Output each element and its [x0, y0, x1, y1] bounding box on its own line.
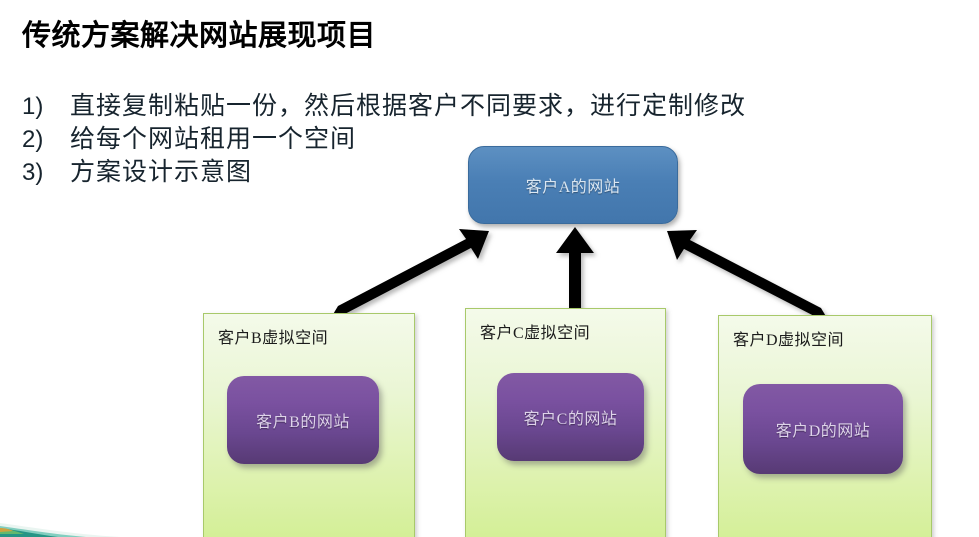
list-item: 2) 给每个网站租用一个空间 — [22, 119, 922, 152]
node-client-a-website[interactable]: 客户A的网站 — [468, 146, 678, 224]
virtual-space-c[interactable]: 客户C虚拟空间 客户C的网站 — [465, 308, 666, 537]
list-item-label: 直接复制粘贴一份，然后根据客户不同要求，进行定制修改 — [70, 86, 746, 122]
arrow-c-to-a — [556, 227, 594, 313]
node-client-a-label: 客户A的网站 — [526, 173, 621, 197]
node-client-c-website[interactable]: 客户C的网站 — [497, 373, 644, 461]
arrow-d-to-a — [667, 230, 827, 327]
virtual-space-d-title: 客户D虚拟空间 — [733, 326, 844, 350]
list-item-label: 方案设计示意图 — [70, 152, 252, 188]
node-client-c-label: 客户C的网站 — [524, 405, 618, 429]
list-item-label: 给每个网站租用一个空间 — [70, 119, 356, 155]
virtual-space-d[interactable]: 客户D虚拟空间 客户D的网站 — [718, 315, 932, 537]
list-item-marker: 2) — [22, 126, 70, 154]
list-item-marker: 1) — [22, 93, 70, 121]
node-client-d-label: 客户D的网站 — [776, 417, 871, 441]
list-item: 1) 直接复制粘贴一份，然后根据客户不同要求，进行定制修改 — [22, 86, 922, 119]
page-title: 传统方案解决网站展现项目 — [22, 12, 376, 54]
node-client-b-label: 客户B的网站 — [256, 408, 350, 432]
virtual-space-c-title: 客户C虚拟空间 — [480, 319, 590, 343]
virtual-space-b[interactable]: 客户B虚拟空间 客户B的网站 — [203, 313, 415, 537]
virtual-space-b-title: 客户B虚拟空间 — [218, 324, 328, 348]
node-client-d-website[interactable]: 客户D的网站 — [743, 384, 903, 474]
slide-canvas: 传统方案解决网站展现项目 1) 直接复制粘贴一份，然后根据客户不同要求，进行定制… — [0, 0, 979, 537]
list-item-marker: 3) — [22, 159, 70, 187]
corner-swoosh-decoration — [0, 507, 130, 537]
node-client-b-website[interactable]: 客户B的网站 — [227, 376, 379, 464]
